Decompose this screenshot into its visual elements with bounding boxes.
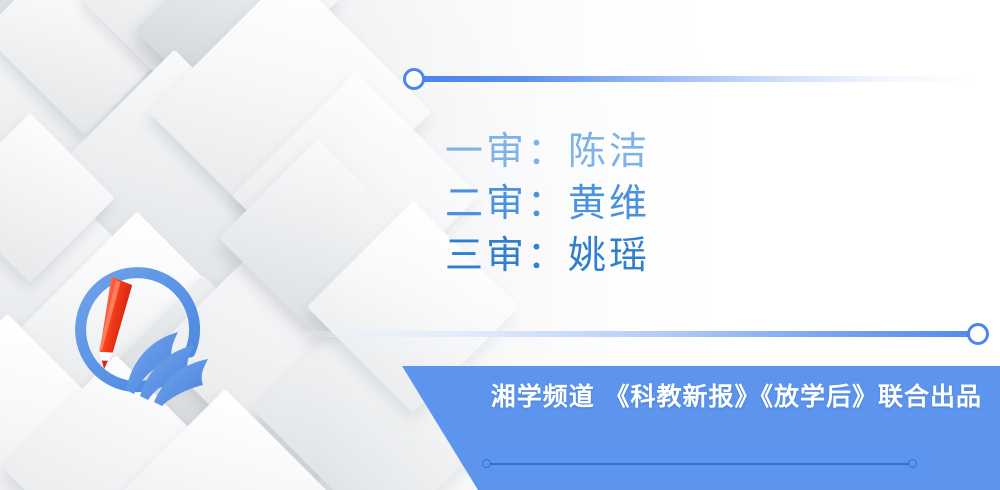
banner-rule-dot-left-icon [482,459,491,468]
banner-underline-rule [485,463,912,465]
credit-line-first-review: 一审：陈洁 [445,125,865,177]
top-connector-line [420,76,976,82]
bottom-connector-line [272,331,978,337]
credits-block: 一审：陈洁 二审：黄维 三审：姚瑶 [445,125,865,281]
credit-line-second-review: 二审：黄维 [445,177,865,229]
banner-rule-dot-right-icon [908,459,917,468]
top-connector-dot-icon [403,68,425,90]
credits-card: 一审：陈洁 二审：黄维 三审：姚瑶 湘学频道 《科教新报》《放学后》联合出品 [0,0,1000,490]
banner-title: 湘学频道 《科教新报》《放学后》联合出品 [0,370,1000,420]
credit-line-third-review: 三审：姚瑶 [445,229,865,281]
bottom-connector-dot-icon [967,323,989,345]
